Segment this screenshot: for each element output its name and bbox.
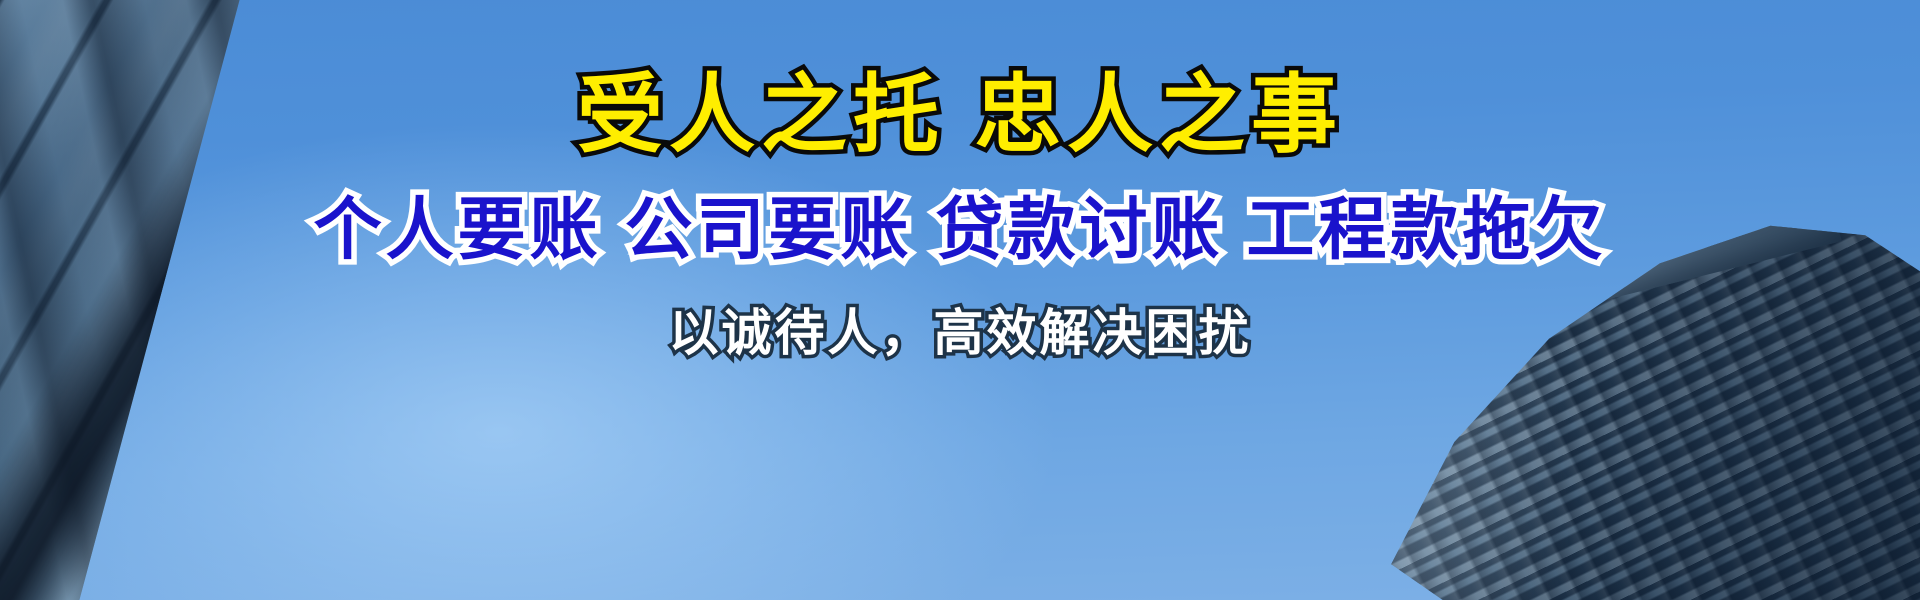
banner-tagline: 以诚待人，高效解决困扰 xyxy=(669,308,1252,358)
banner-headline: 受人之托 忠人之事 xyxy=(577,72,1343,158)
banner-service-list: 个人要账 公司要账 贷款讨账 工程款拖欠 xyxy=(314,196,1607,264)
promo-banner: 受人之托 忠人之事 个人要账 公司要账 贷款讨账 工程款拖欠 以诚待人，高效解决… xyxy=(0,0,1920,600)
banner-text-layer: 受人之托 忠人之事 个人要账 公司要账 贷款讨账 工程款拖欠 以诚待人，高效解决… xyxy=(0,0,1920,600)
